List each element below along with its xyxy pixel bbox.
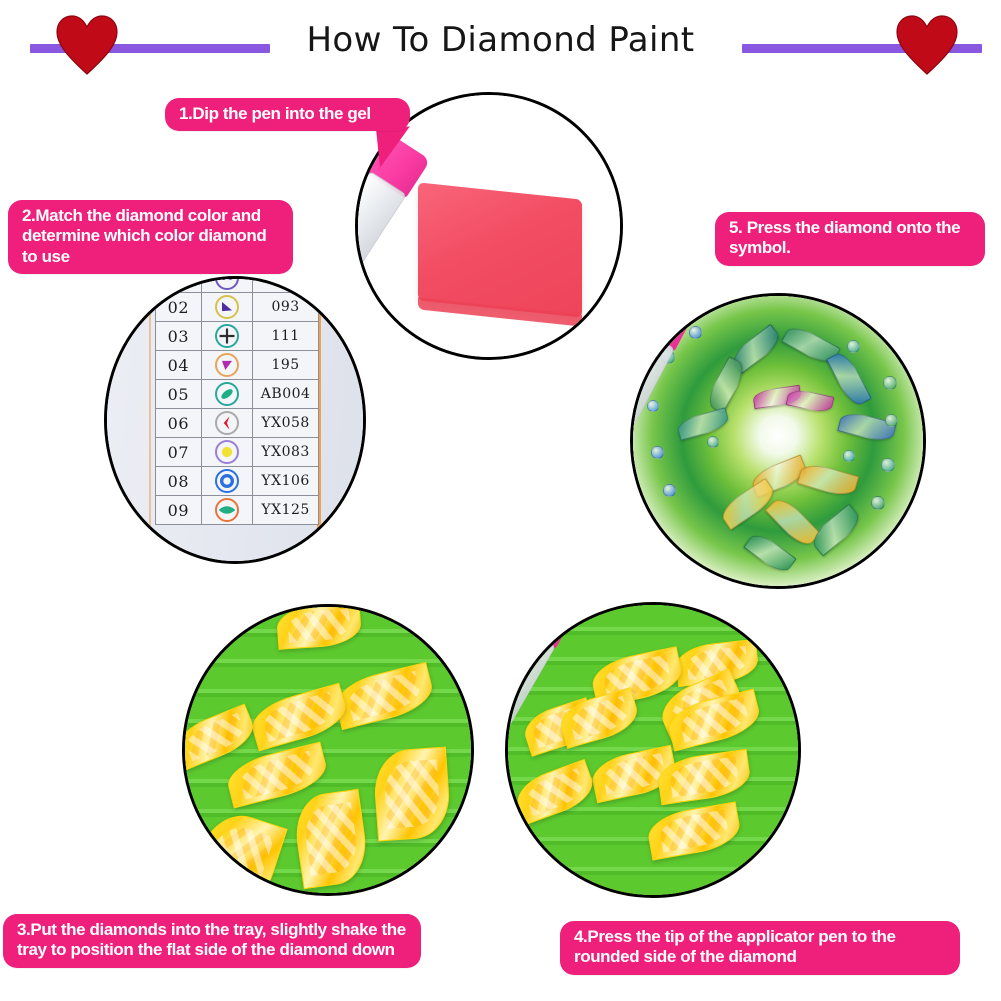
step-3-label: 3.Put the diamonds into the tray, slight… — [3, 914, 421, 968]
canvas-guide-line — [149, 279, 151, 561]
chart-cell-number: 06 — [156, 409, 202, 438]
chart-cell-code: AB004 — [253, 380, 319, 409]
filled-circle-icon — [215, 440, 239, 464]
slash-oval-icon — [215, 382, 239, 406]
diamond-facets — [668, 756, 740, 797]
step-1-label: 1.Dip the pen into the gel — [165, 98, 410, 131]
chart-cell-symbol — [201, 276, 253, 293]
diamond-facets — [382, 759, 441, 830]
canvas-gem — [675, 407, 730, 441]
table-row: 08YX106 — [156, 467, 319, 496]
chart-cell-symbol — [201, 322, 253, 351]
canvas-gem — [885, 414, 898, 427]
table-row: 07YX083 — [156, 438, 319, 467]
plus-icon — [215, 324, 239, 348]
chart-cell-number: 03 — [156, 322, 202, 351]
diamond-facets — [287, 609, 351, 644]
canvas-gem — [843, 450, 855, 462]
callout-tail — [376, 126, 414, 167]
chart-cell-code: 195 — [253, 351, 319, 380]
step-5-label: 5. Press the diamond onto the symbol. — [715, 212, 985, 266]
canvas-gem — [704, 356, 749, 414]
leaf-icon — [215, 498, 239, 522]
canvas-gem — [651, 446, 664, 459]
chart-cell-symbol — [201, 293, 253, 322]
chart-cell-symbol — [201, 380, 253, 409]
canvas-gem — [883, 376, 897, 390]
triangle-icon — [215, 295, 239, 319]
gel-pad — [418, 182, 582, 317]
chart-cell-number: 08 — [156, 467, 202, 496]
left-arrow-icon — [215, 411, 239, 435]
table-row: 06YX058 — [156, 409, 319, 438]
chart-cell-number: 09 — [156, 496, 202, 525]
chart-cell-number: 02 — [156, 293, 202, 322]
step-5-photo — [630, 293, 926, 589]
canvas-gem — [797, 460, 859, 499]
chart-cell-symbol — [201, 409, 253, 438]
step-2-label: 2.Match the diamond color and determine … — [8, 200, 293, 274]
chart-cell-code: 111 — [253, 322, 319, 351]
chart-cell-number: 04 — [156, 351, 202, 380]
diamond-facets — [301, 802, 360, 877]
chart-cell-code: YX106 — [253, 467, 319, 496]
color-chart-table: 0102802093031110419505AB00406YX05807YX08… — [155, 276, 319, 525]
canvas-gem — [881, 458, 895, 472]
double-dot-icon — [215, 276, 239, 290]
chart-cell-symbol — [201, 351, 253, 380]
step-3-photo — [182, 604, 474, 896]
canvas-gem — [847, 340, 860, 353]
canvas-gem — [871, 496, 885, 510]
table-row: 09YX125 — [156, 496, 319, 525]
chart-cell-number: 01 — [156, 276, 202, 293]
pen-collar — [355, 246, 356, 278]
chart-cell-code: YX083 — [253, 438, 319, 467]
chart-cell-code: YX125 — [253, 496, 319, 525]
chart-cell-code: 093 — [253, 293, 319, 322]
table-row: 03111 — [156, 322, 319, 351]
canvas-gem — [786, 387, 835, 414]
table-row: 02093 — [156, 293, 319, 322]
canvas-gem — [647, 400, 659, 412]
table-row: 04195 — [156, 351, 319, 380]
canvas-gem — [707, 436, 719, 448]
canvas-gem — [663, 484, 676, 497]
canvas-gem — [743, 529, 796, 576]
ring-icon — [215, 469, 239, 493]
table-row: 01028 — [156, 276, 319, 293]
step-4-label: 4.Press the tip of the applicator pen to… — [560, 921, 960, 975]
chart-cell-number: 07 — [156, 438, 202, 467]
canvas-gem — [689, 326, 702, 339]
table-row: 05AB004 — [156, 380, 319, 409]
page-header: How To Diamond Paint — [0, 0, 1001, 90]
chart-cell-symbol — [201, 438, 253, 467]
triangle-down-icon — [215, 353, 239, 377]
chart-cell-symbol — [201, 467, 253, 496]
chart-cell-symbol — [201, 496, 253, 525]
step-4-photo — [505, 602, 801, 898]
step-2-photo: 0102802093031110419505AB00406YX05807YX08… — [104, 276, 366, 564]
chart-cell-code: YX058 — [253, 409, 319, 438]
chart-cell-code: 028 — [253, 276, 319, 293]
diamond-facets — [199, 820, 274, 896]
chart-cell-number: 05 — [156, 380, 202, 409]
page-title: How To Diamond Paint — [0, 20, 1001, 60]
